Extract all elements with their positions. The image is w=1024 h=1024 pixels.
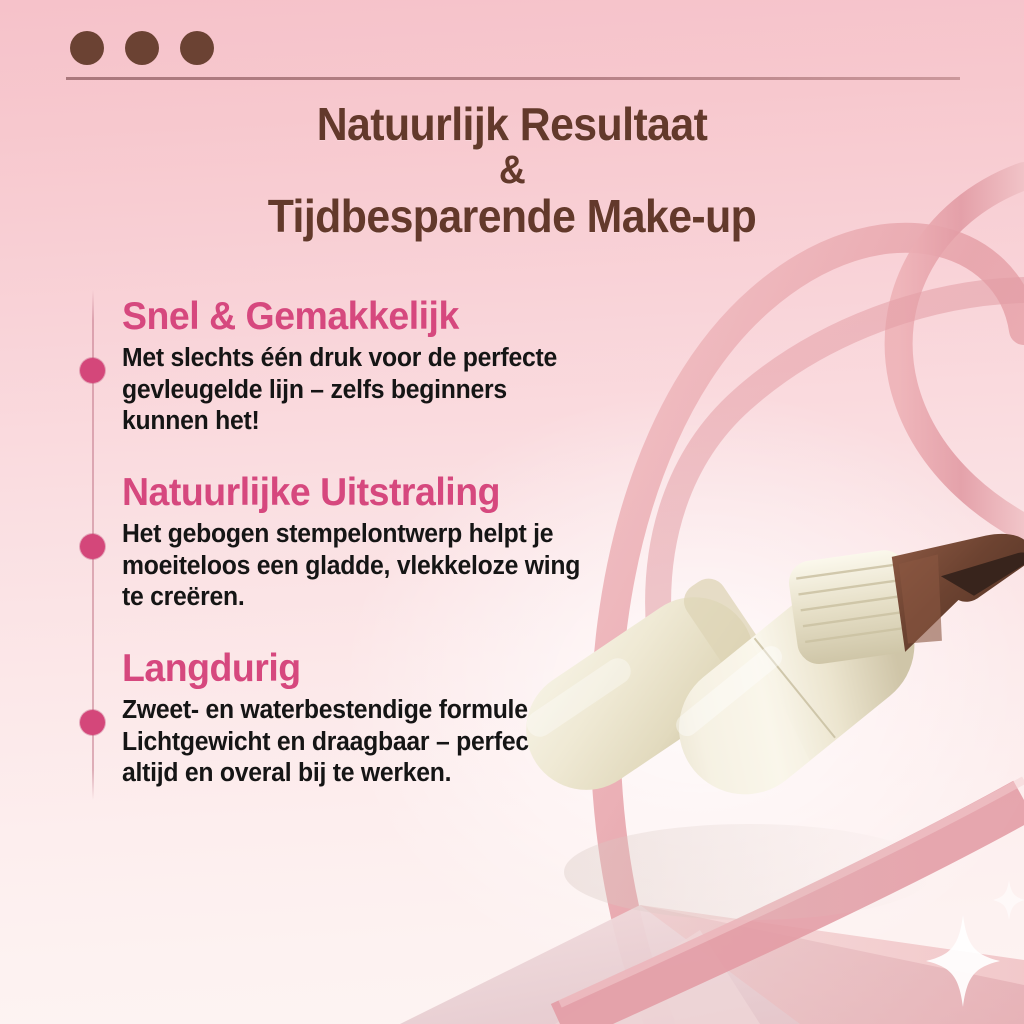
product-shadow [564,824,934,920]
sparkle-icon [926,880,1024,1007]
header-dot-2 [125,31,159,65]
product-stamp-head [891,530,1024,652]
product-collar [786,547,917,666]
poster-canvas: Natuurlijk Resultaat & Tijdbesparende Ma… [0,0,1024,1024]
feature-heading-3: Langdurig [122,648,600,690]
ribbon-sweep [560,780,1024,1024]
product-pen [652,552,941,821]
header-dot-1 [70,31,104,65]
feature-list: Snel & Gemakkelijk Met slechts één druk … [0,296,620,824]
header-dot-3 [180,31,214,65]
feature-item-2: Natuurlijke Uitstraling Het gebogen stem… [0,472,620,614]
page-title: Natuurlijk Resultaat & Tijdbesparende Ma… [36,100,988,241]
feature-bullet-dot-3 [80,710,105,735]
feature-bullet-dot-1 [80,358,105,383]
feature-item-3: Langdurig Zweet- en waterbestendige form… [0,648,620,790]
header-divider [66,77,960,80]
ribbon-loop [605,176,1024,1024]
feature-body-2: Het gebogen stempelontwerp helpt je moei… [122,519,588,614]
fabric-fold [400,905,1024,1024]
feature-heading-1: Snel & Gemakkelijk [122,296,600,338]
header-dots [70,31,214,65]
feature-heading-2: Natuurlijke Uitstraling [122,472,600,514]
feature-item-1: Snel & Gemakkelijk Met slechts één druk … [0,296,620,438]
title-line-1: Natuurlijk Resultaat [36,100,988,149]
feature-bullet-dot-2 [80,534,105,559]
title-line-2: Tijdbesparende Make-up [36,192,988,241]
title-ampersand: & [36,149,988,192]
feature-body-3: Zweet- en waterbestendige formule. Licht… [122,695,588,790]
feature-body-1: Met slechts één druk voor de perfecte ge… [122,343,588,438]
